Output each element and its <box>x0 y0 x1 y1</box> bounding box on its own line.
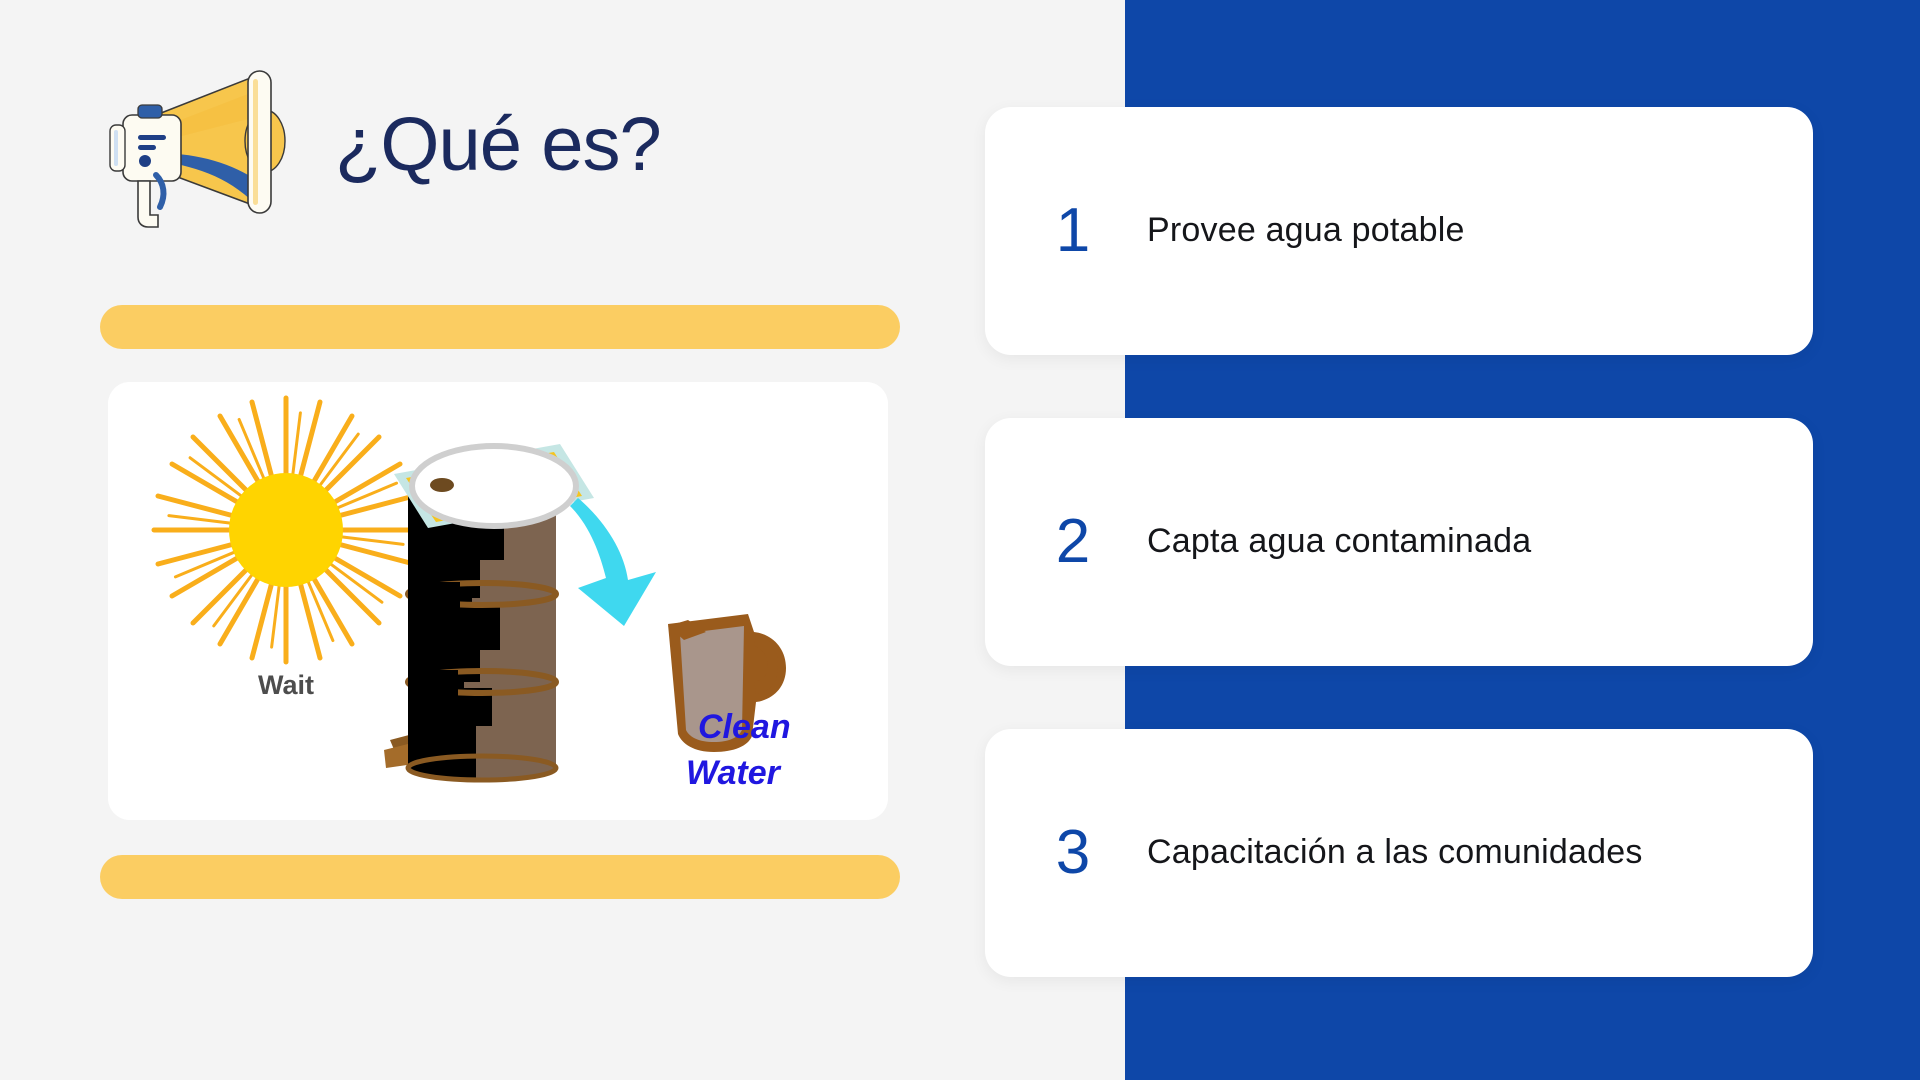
decor-bar-top <box>100 305 900 349</box>
illustration-card: Wait <box>108 382 888 820</box>
step-text-3: Capacitación a las comunidades <box>1147 831 1813 875</box>
page-title: ¿Qué es? <box>335 107 661 183</box>
decor-bar-bottom <box>100 855 900 899</box>
step-card-3[interactable]: 3 Capacitación a las comunidades <box>985 729 1813 977</box>
megaphone-icon <box>98 57 313 232</box>
step-text-1: Provee agua potable <box>1147 209 1813 253</box>
steps-list: 1 Provee agua potable 2 Capta agua conta… <box>985 0 1813 1080</box>
step-number-3: 3 <box>985 822 1147 884</box>
clean-water-label-line2: Water <box>686 754 782 792</box>
step-card-1[interactable]: 1 Provee agua potable <box>985 107 1813 355</box>
sun-graphic <box>154 398 418 662</box>
clean-water-label-line1: Clean <box>698 708 791 746</box>
wait-label: Wait <box>258 670 314 700</box>
step-text-2: Capta agua contaminada <box>1147 520 1813 564</box>
step-card-2[interactable]: 2 Capta agua contaminada <box>985 418 1813 666</box>
step-number-2: 2 <box>985 511 1147 573</box>
barrel-graphic <box>384 490 556 780</box>
left-column: ¿Qué es? <box>0 0 1125 1080</box>
step-number-1: 1 <box>985 200 1147 262</box>
page-header: ¿Qué es? <box>98 62 661 227</box>
solar-water-disinfection-illustration: Wait <box>108 382 888 820</box>
